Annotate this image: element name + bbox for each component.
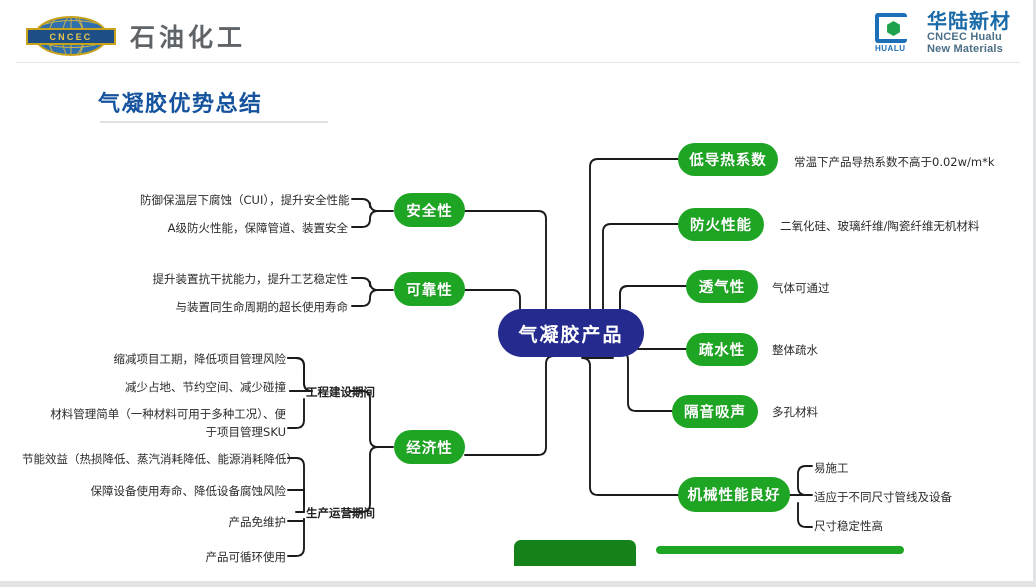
- branch-node-hydrophobic[interactable]: 疏水性: [686, 333, 758, 366]
- leaf-text: 减少占地、节约空间、减少碰撞: [60, 379, 286, 396]
- leaf-text: 保障设备使用寿命、降低设备腐蚀风险: [22, 483, 286, 500]
- branch-node-jingjixing[interactable]: 经济性: [394, 430, 465, 464]
- leaf-text: 缩减项目工期，降低项目管理风险: [60, 351, 286, 368]
- leaf-text: 与装置同生命周期的超长使用寿命: [140, 299, 348, 316]
- leaf-text: 易施工: [814, 460, 849, 477]
- branch-label: 防火性能: [690, 214, 752, 235]
- leaf-text: 整体疏水: [772, 342, 818, 359]
- branch-label: 经济性: [406, 437, 453, 458]
- leaf-text: A级防火性能，保障管道、装置安全: [140, 220, 348, 237]
- branch-node-mechanical[interactable]: 机械性能良好: [678, 477, 790, 512]
- branch-label: 安全性: [406, 200, 453, 221]
- branch-label: 疏水性: [699, 339, 746, 360]
- slide-canvas: CNCEC 石油化工 HUALU 华陆新材 CNCEC Hualu New Ma…: [0, 0, 1036, 587]
- leaf-text: 尺寸稳定性高: [814, 518, 883, 535]
- leaf-text: 二氧化硅、玻璃纤维/陶瓷纤维无机材料: [780, 218, 979, 235]
- branch-node-soundproof[interactable]: 隔音吸声: [672, 395, 758, 428]
- leaf-text: 节能效益（热损降低、蒸汽消耗降低、能源消耗降低）: [22, 451, 286, 468]
- branch-node-anquanxing[interactable]: 安全性: [394, 193, 465, 227]
- group-label-construction: 工程建设期间: [306, 384, 375, 400]
- leaf-text: 提升装置抗干扰能力，提升工艺稳定性: [140, 271, 348, 288]
- decoration-bar: [656, 546, 904, 554]
- leaf-text: 气体可通过: [772, 280, 830, 297]
- leaf-text: 常温下产品导热系数不高于0.02w/m*k: [794, 154, 995, 171]
- center-node-label: 气凝胶产品: [518, 320, 623, 347]
- leaf-text: 适应于不同尺寸管线及设备: [814, 489, 952, 506]
- leaf-text: 多孔材料: [772, 404, 818, 421]
- leaf-text: 产品可循环使用: [22, 549, 286, 566]
- center-node[interactable]: 气凝胶产品: [498, 309, 644, 357]
- leaf-text: 防御保温层下腐蚀（CUI），提升安全性能: [140, 192, 348, 209]
- leaf-text: 产品免维护: [22, 514, 286, 531]
- branch-label: 可靠性: [406, 279, 453, 300]
- branch-label: 透气性: [699, 276, 746, 297]
- branch-label: 机械性能良好: [688, 484, 781, 505]
- branch-node-low-conductivity[interactable]: 低导热系数: [678, 143, 778, 176]
- branch-node-breathable[interactable]: 透气性: [686, 270, 758, 303]
- decoration-block: [514, 540, 636, 566]
- branch-label: 隔音吸声: [684, 401, 746, 422]
- mind-map: 气凝胶产品 安全性 可靠性 经济性 防御保温层下腐蚀（CUI），提升安全性能 A…: [0, 0, 1036, 587]
- branch-node-kekaoxing[interactable]: 可靠性: [394, 272, 465, 306]
- group-label-operation: 生产运营期间: [306, 505, 375, 521]
- leaf-text: 材料管理简单（一种材料可用于多种工况）、便于项目管理SKU: [44, 406, 286, 442]
- branch-label: 低导热系数: [689, 149, 767, 170]
- branch-node-fireproof[interactable]: 防火性能: [678, 208, 764, 241]
